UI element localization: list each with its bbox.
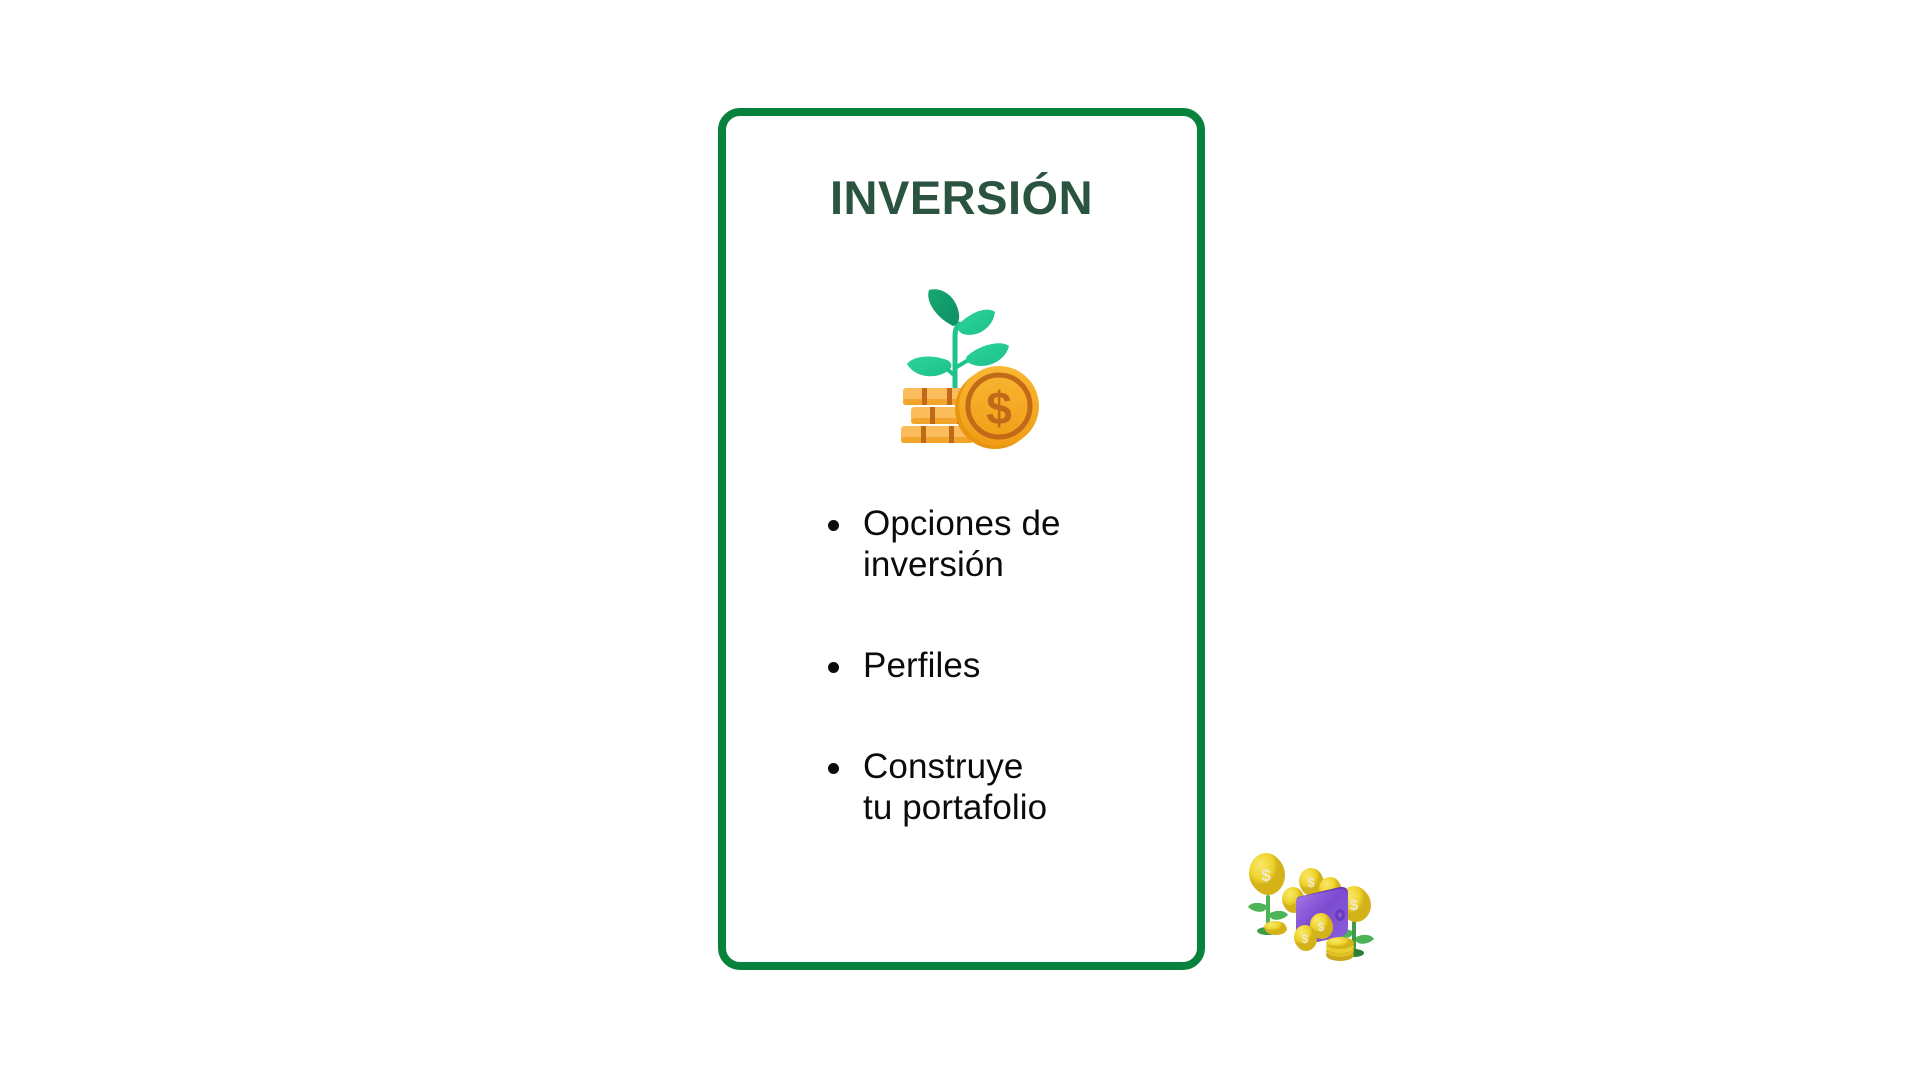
bullet-dot-icon [828, 520, 839, 531]
svg-text:$: $ [1350, 897, 1359, 914]
list-item: Construye tu portafolio [822, 747, 1152, 829]
list-item-label: Construye tu portafolio [863, 747, 1152, 829]
svg-text:$: $ [1261, 866, 1271, 885]
bullet-dot-icon [828, 763, 839, 774]
svg-text:$: $ [1307, 875, 1315, 890]
page-title: INVERSIÓN [726, 174, 1197, 221]
list-item-label: Opciones de inversión [863, 504, 1152, 586]
slide-canvas: INVERSIÓN [0, 0, 1920, 1080]
list-item: Opciones de inversión [822, 504, 1152, 586]
bullet-dot-icon [828, 662, 839, 673]
list-item-label: Perfiles [863, 646, 1152, 687]
svg-text:$: $ [1318, 920, 1325, 934]
wallet-with-coins-icon: $ $ $ [1236, 843, 1386, 978]
svg-text:$: $ [986, 382, 1012, 434]
feature-bullet-list: Opciones de inversión Perfiles Construye… [822, 504, 1152, 829]
inversion-card: INVERSIÓN [718, 108, 1205, 970]
svg-text:$: $ [1302, 932, 1309, 946]
list-item: Perfiles [822, 646, 1152, 687]
plant-growing-from-coins-icon: $ [867, 276, 1057, 451]
